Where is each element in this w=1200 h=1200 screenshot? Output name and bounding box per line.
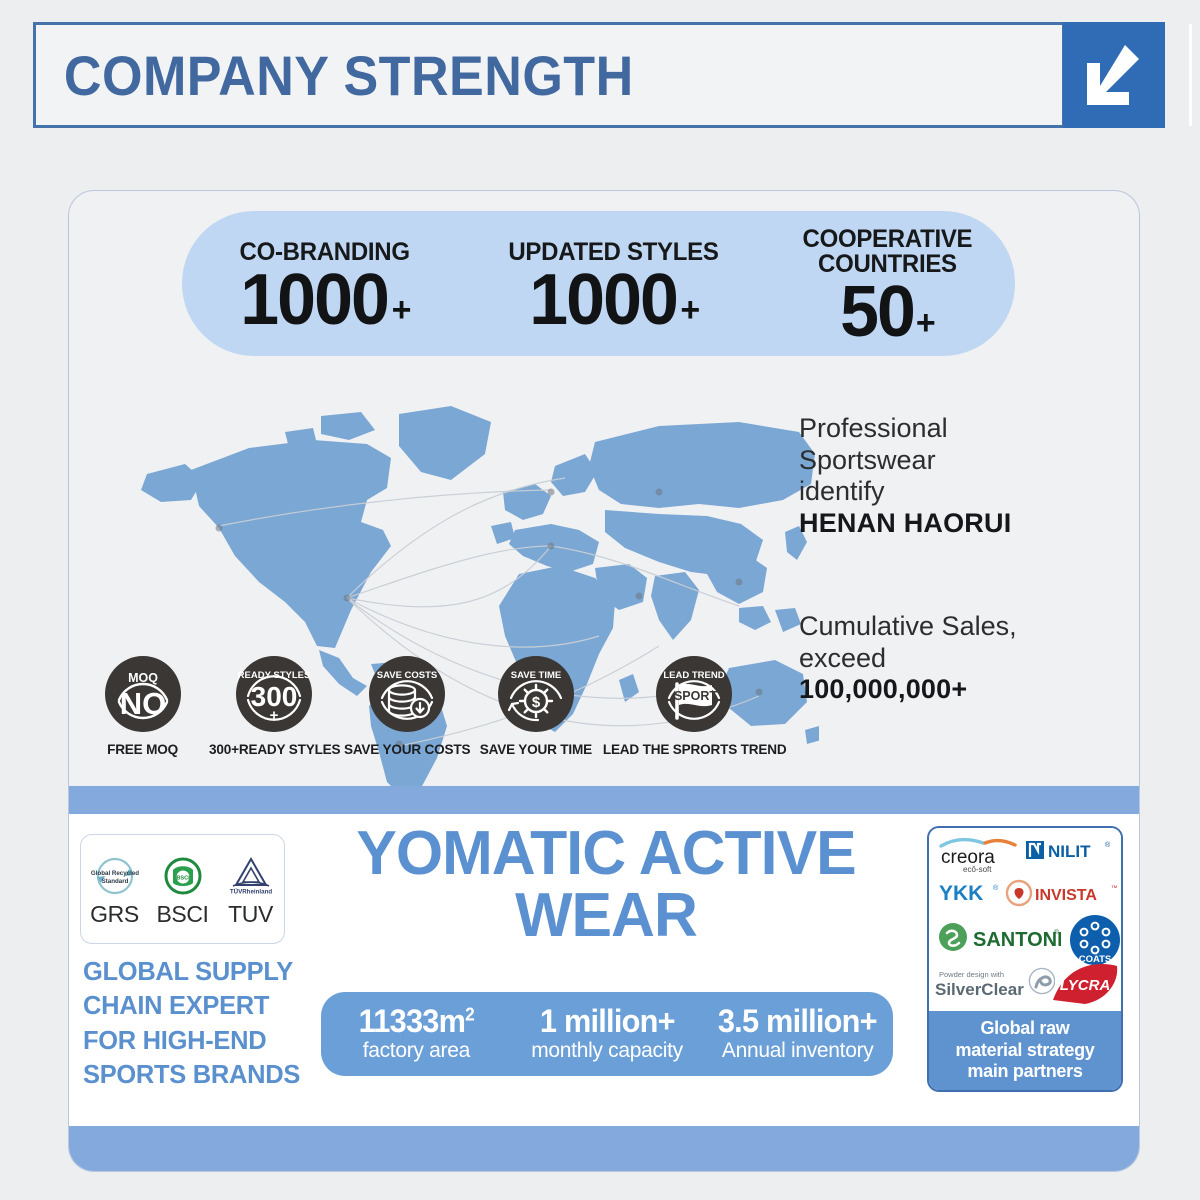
company-name: HENAN HAORUI [799, 508, 1099, 539]
partner-logo-invista: INVISTA ™ [1005, 878, 1119, 908]
stat-value: 50 [840, 279, 914, 345]
brand-title-line-2: WEAR [307, 885, 905, 947]
svg-text:™: ™ [1111, 885, 1118, 892]
clock-dollar-icon: SAVE TIME $ [498, 656, 574, 732]
tuv-rheinland-icon: TÜVRheinland [224, 853, 278, 899]
partner-logo-santoni: SANTONI ® [937, 920, 1061, 954]
sport-flag-icon: LEAD TREND SPORT [656, 656, 732, 732]
stat-updated-styles: UPDATED STYLES 1000 + [468, 211, 760, 356]
brand-title: YOMATIC ACTIVE WEAR [301, 824, 911, 947]
svg-text:SPORT: SPORT [674, 689, 717, 703]
metric-monthly-capacity: 1 million+ monthly capacity [512, 1005, 703, 1063]
supply-chain-text: GLOBAL SUPPLY CHAIN EXPERT FOR HIGH-END … [83, 954, 323, 1091]
stat-co-branding: CO-BRANDING 1000 + [182, 211, 468, 356]
metric-factory-area: 11333m2 factory area [321, 1005, 512, 1063]
svg-text:LYCRA: LYCRA [1060, 977, 1111, 994]
svg-text:YKK: YKK [939, 882, 983, 905]
metric-value: 3.5 million+ [706, 1005, 889, 1039]
svg-text:BSCI: BSCI [176, 875, 190, 881]
partner-logo-nilit: NILIT ® [1025, 838, 1115, 864]
header-title-box: COMPANY STRENGTH [33, 22, 1065, 128]
cert-name: TUV [224, 901, 278, 928]
feature-caption: SAVE YOUR TIME [480, 741, 592, 757]
svg-text:SAVE TIME: SAVE TIME [511, 670, 562, 681]
svg-text:READY STYLES: READY STYLES [238, 670, 311, 681]
stat-suffix: + [916, 306, 936, 346]
page-header: COMPANY STRENGTH [0, 0, 1200, 150]
svg-text:NO: NO [120, 686, 167, 721]
svg-text:NILIT: NILIT [1048, 842, 1091, 861]
sales-amount: 100,000,000+ [799, 674, 1109, 705]
svg-text:INVISTA: INVISTA [1035, 887, 1097, 904]
feature-caption: 300+READY STYLES [209, 741, 340, 757]
svg-text:SANTONI: SANTONI [973, 929, 1061, 951]
partners-caption-line-1: Global raw [933, 1018, 1117, 1039]
metric-superscript: 2 [465, 1004, 474, 1024]
supply-line: FOR HIGH-END [83, 1023, 318, 1057]
top-stats-pill: CO-BRANDING 1000 + UPDATED STYLES 1000 +… [182, 211, 1015, 356]
partner-logo-lycra: LYCRA [1051, 960, 1121, 1006]
stat-label: COOPERATIVE COUNTRIES [802, 227, 972, 277]
svg-text:ecô-soft: ecô-soft [963, 865, 992, 874]
supply-line: CHAIN EXPERT [83, 988, 318, 1022]
metric-value: 11333m2 [325, 1005, 508, 1039]
svg-text:LEAD TREND: LEAD TREND [664, 670, 725, 681]
partners-box: creora ecô-soft NILIT ® YKK ® [927, 826, 1123, 1092]
supply-line: GLOBAL SUPPLY [83, 954, 318, 988]
svg-text:Standard: Standard [101, 878, 128, 885]
stat-suffix: + [392, 293, 412, 333]
svg-text:Global Recycled: Global Recycled [90, 870, 138, 877]
partner-logo-silverclear: Powder design with SilverClear [933, 964, 1055, 1004]
partner-logo-grid: creora ecô-soft NILIT ® YKK ® [929, 828, 1121, 1011]
header-logo [1063, 22, 1165, 128]
company-strength-card: CO-BRANDING 1000 + UPDATED STYLES 1000 +… [68, 190, 1140, 1172]
partners-caption-line-2: material strategy [933, 1040, 1117, 1061]
lower-panel: Global Recycled Standard BSCI [69, 814, 1139, 1126]
metric-annual-inventory: 3.5 million+ Annual inventory [702, 1005, 893, 1063]
svg-text:®: ® [993, 884, 999, 892]
metric-label: Annual inventory [702, 1039, 893, 1063]
partner-logo-creora: creora ecô-soft [935, 834, 1021, 874]
brand-title-line-1: YOMATIC ACTIVE [307, 824, 905, 885]
coins-download-icon: SAVE COSTS [369, 656, 445, 732]
feature-caption: LEAD THE SPRORTS TREND [603, 741, 787, 757]
feature-badge-row: MOQ NO FREE MOQ READY STYLES 300 + 300+R… [79, 656, 789, 781]
certifications-box: Global Recycled Standard BSCI [80, 834, 285, 944]
svg-text:SAVE COSTS: SAVE COSTS [377, 670, 438, 681]
feature-ready-styles: READY STYLES 300 + 300+READY STYLES [207, 656, 342, 757]
intro-line-2: Sportswear [799, 445, 1099, 477]
partner-logo-ykk: YKK ® [937, 880, 1005, 906]
sales-line-1: Cumulative Sales, [799, 611, 1109, 643]
feature-caption: FREE MOQ [107, 741, 178, 757]
metric-label: monthly capacity [512, 1039, 703, 1063]
feature-caption: SAVE YOUR COSTS [344, 741, 470, 757]
header-right-rule [1189, 24, 1192, 126]
partners-caption: Global raw material strategy main partne… [929, 1011, 1121, 1090]
svg-text:®: ® [1054, 928, 1059, 936]
no-moq-icon: MOQ NO [105, 656, 181, 732]
feature-save-costs: SAVE COSTS SAVE YOUR COSTS [342, 656, 472, 757]
svg-text:MOQ: MOQ [128, 671, 158, 685]
bottom-blue-band [69, 1126, 1139, 1172]
svg-text:®: ® [1105, 841, 1111, 849]
sales-line-2: exceed [799, 643, 1109, 675]
cumulative-sales-block: Cumulative Sales, exceed 100,000,000+ [799, 611, 1109, 705]
svg-text:+: + [270, 707, 279, 724]
intro-line-3: identify [799, 476, 1099, 508]
feature-save-time: SAVE TIME $ SAVE YOUR TIME [472, 656, 600, 757]
cert-name: BSCI [156, 901, 210, 928]
metrics-pill: 11333m2 factory area 1 million+ monthly … [321, 992, 893, 1076]
partner-logo-coats: COATS [1069, 914, 1121, 966]
intro-line-1: Professional [799, 413, 1099, 445]
svg-text:Powder design with: Powder design with [939, 970, 1004, 979]
svg-text:TÜVRheinland: TÜVRheinland [229, 888, 272, 895]
intro-text-block: Professional Sportswear identify HENAN H… [799, 413, 1099, 539]
svg-text:$: $ [532, 694, 541, 711]
stat-cooperative-countries: COOPERATIVE COUNTRIES 50 + [760, 211, 1015, 356]
bsci-icon: BSCI [156, 853, 210, 899]
stat-label-line1: COOPERATIVE [802, 225, 972, 253]
stat-value: 1000 [530, 267, 678, 333]
global-recycled-standard-icon: Global Recycled Standard [88, 853, 142, 899]
svg-text:SilverClear: SilverClear [935, 980, 1024, 999]
metric-number: 11333m [359, 1003, 465, 1039]
metric-label: factory area [321, 1039, 512, 1063]
partners-caption-line-3: main partners [933, 1061, 1117, 1082]
feature-lead-trend: LEAD TREND SPORT LEAD THE SPRORTS TREND [600, 656, 789, 757]
metric-value: 1 million+ [515, 1005, 698, 1039]
feature-free-moq: MOQ NO FREE MOQ [79, 656, 207, 757]
page-title: COMPANY STRENGTH [36, 43, 634, 108]
arrow-down-left-icon [1081, 41, 1147, 109]
blue-divider-band [69, 786, 1139, 814]
stat-suffix: + [680, 293, 700, 333]
supply-line: SPORTS BRANDS [83, 1057, 318, 1091]
ready-styles-icon: READY STYLES 300 + [236, 656, 312, 732]
cert-name: GRS [88, 901, 142, 928]
stat-value: 1000 [241, 267, 389, 333]
